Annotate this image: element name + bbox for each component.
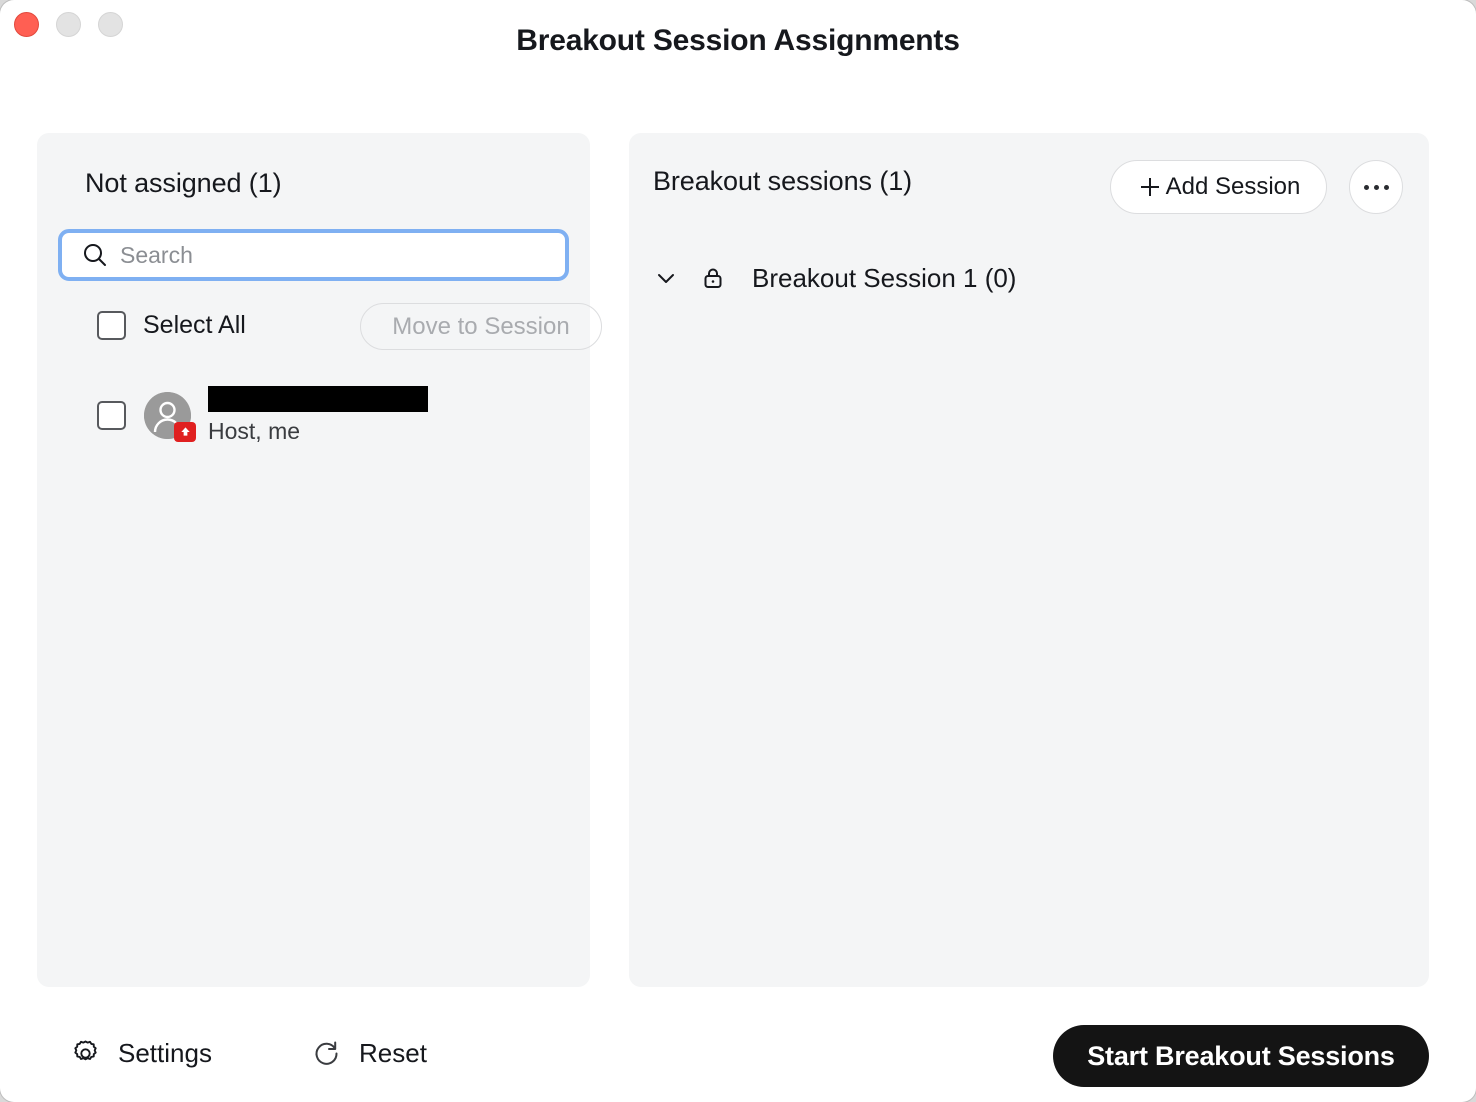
participant-name-redacted (208, 386, 428, 412)
settings-button[interactable]: Settings (70, 1038, 212, 1069)
host-up-arrow-badge-icon (174, 422, 196, 442)
gear-icon (70, 1038, 101, 1069)
not-assigned-heading: Not assigned (1) (85, 168, 282, 199)
reset-label: Reset (359, 1038, 427, 1069)
reset-button[interactable]: Reset (311, 1038, 427, 1069)
session-row[interactable]: Breakout Session 1 (0) (647, 255, 1407, 301)
add-session-label: Add Session (1166, 173, 1301, 201)
search-icon (82, 242, 108, 268)
ellipsis-icon (1374, 185, 1379, 190)
breakout-session-window: Breakout Session Assignments Not assigne… (0, 0, 1476, 1102)
participant-role: Host, me (208, 418, 428, 445)
plus-icon (1137, 174, 1163, 200)
search-input[interactable] (120, 242, 540, 269)
breakout-sessions-heading: Breakout sessions (1) (653, 166, 912, 197)
select-all-checkbox[interactable] (97, 311, 126, 340)
reset-icon (311, 1038, 342, 1069)
page-title: Breakout Session Assignments (0, 24, 1476, 58)
title-bar: Breakout Session Assignments (0, 0, 1476, 88)
ellipsis-icon (1364, 185, 1369, 190)
ellipsis-icon (1384, 185, 1389, 190)
start-breakout-sessions-button[interactable]: Start Breakout Sessions (1053, 1025, 1429, 1087)
not-assigned-panel: Not assigned (1) Select All Move to Sess… (37, 133, 590, 987)
session-label: Breakout Session 1 (0) (752, 263, 1016, 294)
avatar (144, 392, 191, 439)
more-options-button[interactable] (1349, 160, 1403, 214)
search-field[interactable] (58, 229, 569, 281)
select-all-label: Select All (143, 311, 246, 340)
up-arrow-icon (179, 425, 192, 438)
participant-checkbox[interactable] (97, 401, 126, 430)
settings-label: Settings (118, 1038, 212, 1069)
select-all-row[interactable]: Select All (97, 299, 246, 351)
chevron-down-icon[interactable] (653, 265, 679, 291)
add-session-button[interactable]: Add Session (1110, 160, 1327, 214)
breakout-sessions-panel: Breakout sessions (1) Add Session Breako… (629, 133, 1429, 987)
move-to-session-button[interactable]: Move to Session (360, 303, 602, 350)
participant-row[interactable]: Host, me (97, 380, 567, 450)
lock-icon (700, 265, 726, 291)
participant-text: Host, me (208, 386, 428, 445)
